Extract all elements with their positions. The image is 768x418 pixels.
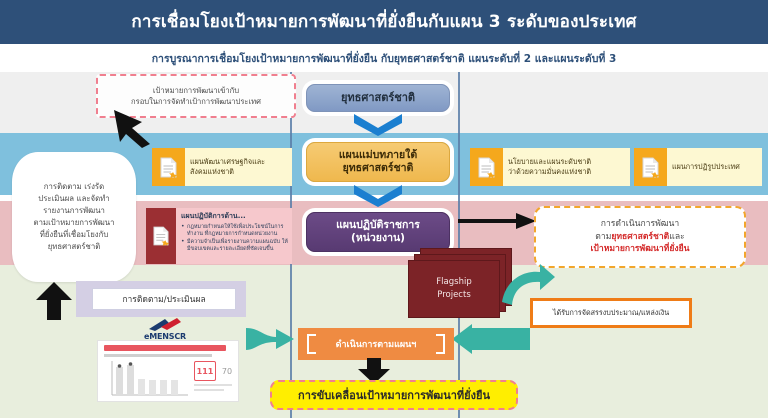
document-icon bbox=[634, 148, 667, 186]
dashboard-stat-rule bbox=[194, 389, 224, 391]
card-econ-social-plan[interactable]: แผนพัฒนาเศรษฐกิจและ สังคมแห่งชาติ bbox=[152, 148, 292, 186]
card-econ-social-plan-text: แผนพัฒนาเศรษฐกิจและ สังคมแห่งชาติ bbox=[190, 157, 269, 176]
document-icon bbox=[152, 148, 185, 186]
emenscr-dashboard-thumbnail[interactable]: 111 70 bbox=[97, 340, 239, 402]
goal-frame-box: เป้าหมายการพัฒนาเข้ากับ กรอบในการจัดทำเป… bbox=[96, 74, 296, 118]
subtitle-band: การบูรณาการเชื่อมโยงเป้าหมายการพัฒนาที่ย… bbox=[0, 44, 768, 72]
card-sector-action-plan[interactable]: แผนปฏิบัติการด้าน... กฎหมายกำหนดให้ใช้เพ… bbox=[146, 208, 292, 264]
cloud-monitoring-line: ตามเป้าหมายการพัฒนา bbox=[34, 217, 115, 229]
goal-frame-line1: เป้าหมายการพัฒนาเข้ากับ bbox=[131, 85, 261, 96]
goal-frame-line2: กรอบในการจัดทำเป้าการพัฒนาประเทศ bbox=[131, 96, 261, 107]
cloud-monitoring-line: ที่ยั่งยืนที่เชื่อมโยงกับ bbox=[34, 229, 115, 241]
card-security-plan-line2: ว่าด้วยความมั่นคงแห่งชาติ bbox=[508, 167, 591, 177]
emenscr-mark-icon bbox=[145, 318, 185, 332]
dashboard-subtitle-line bbox=[104, 354, 212, 357]
box-implementation-line3: เป้าหมายการพัฒนาที่ยั่งยืน bbox=[591, 243, 690, 256]
list-item: มีความจำเป็นเพื่อรายงานความแผนฉบับ ให้มี… bbox=[181, 239, 288, 253]
bracket-right bbox=[436, 334, 445, 354]
card-reform-plan-line1: แผนการปฏิรูปประเทศ bbox=[672, 162, 740, 172]
cloud-monitoring-line: ประเมินผล และจัดทำ bbox=[34, 193, 115, 205]
banner-sdg-drive-label: การขับเคลื่อนเป้าหมายการพัฒนาที่ยั่งยืน bbox=[298, 386, 490, 404]
emenscr-logo: eMENSCR bbox=[128, 318, 202, 341]
infographic-canvas: การเชื่อมโยงเป้าหมายการพัฒนาที่ยั่งยืนกั… bbox=[0, 0, 768, 418]
box-evaluation[interactable]: การติดตาม/ประเมินผล bbox=[92, 288, 236, 310]
document-icon bbox=[470, 148, 503, 186]
box-implementation: การดำเนินการพัฒนา ตามยุทธศาสตร์ชาติและ เ… bbox=[534, 206, 746, 268]
card-reform-plan-text: แผนการปฏิรูปประเทศ bbox=[672, 162, 744, 172]
flagship-label-line1: Flagship bbox=[436, 276, 471, 289]
node-national-strategy[interactable]: ยุทธศาสตร์ชาติ bbox=[306, 84, 450, 112]
bracket-left bbox=[307, 334, 316, 354]
box-implementation-line1: การดำเนินการพัฒนา bbox=[601, 218, 680, 231]
card-sector-action-plan-bullets: กฎหมายกำหนดให้ใช้เพื่อประโยชน์ในการทำงาน… bbox=[181, 224, 288, 253]
card-sector-action-plan-body: แผนปฏิบัติการด้าน... กฎหมายกำหนดให้ใช้เพ… bbox=[176, 208, 292, 264]
box-evaluation-label: การติดตาม/ประเมินผล bbox=[122, 292, 205, 306]
box-budget-allocation[interactable]: ได้รับการจัดสรรงบประมาณ/แหล่งเงิน bbox=[530, 298, 692, 328]
node-action-plan[interactable]: แผนปฏิบัติราชการ (หน่วยงาน) bbox=[306, 212, 450, 252]
card-econ-social-plan-line2: สังคมแห่งชาติ bbox=[190, 167, 265, 177]
flagship-projects-stack[interactable]: Flagship Projects bbox=[408, 248, 516, 320]
cloud-monitoring: การติดตาม เร่งรัด ประเมินผล และจัดทำ ราย… bbox=[12, 152, 136, 282]
document-icon bbox=[146, 208, 176, 264]
dashboard-bar-chart bbox=[106, 361, 190, 399]
dashboard-stat-primary: 111 bbox=[194, 361, 216, 381]
dashboard-header-bar bbox=[104, 345, 226, 351]
node-master-plan[interactable]: แผนแม่บทภายใต้ ยุทธศาสตร์ชาติ bbox=[306, 142, 450, 182]
node-national-strategy-label: ยุทธศาสตร์ชาติ bbox=[341, 91, 415, 105]
flagship-card-front[interactable]: Flagship Projects bbox=[408, 260, 500, 318]
node-master-plan-line2: ยุทธศาสตร์ชาติ bbox=[343, 162, 414, 175]
flagship-label-line2: Projects bbox=[437, 289, 471, 302]
dashboard-stat-rule bbox=[194, 384, 232, 386]
box-do-plan[interactable]: ดำเนินการตามแผนฯ bbox=[298, 328, 454, 360]
card-security-plan-line1: นโยบายและแผนระดับชาติ bbox=[508, 157, 591, 167]
box-implementation-line2: ตามยุทธศาสตร์ชาติและ bbox=[595, 231, 684, 244]
box-do-plan-label: ดำเนินการตามแผนฯ bbox=[336, 337, 417, 351]
dashboard-stat-panel: 111 70 bbox=[194, 361, 234, 395]
node-action-plan-line2: (หน่วยงาน) bbox=[351, 232, 405, 245]
cloud-monitoring-line: รายงานการพัฒนา bbox=[34, 205, 115, 217]
cloud-monitoring-line: การติดตาม เร่งรัด bbox=[34, 181, 115, 193]
impl-line2-tail: และ bbox=[669, 232, 684, 242]
page-title: การเชื่อมโยงเป้าหมายการพัฒนาที่ยั่งยืนกั… bbox=[131, 13, 636, 32]
impl-line2-plain: ตาม bbox=[595, 232, 611, 242]
page-subtitle: การบูรณาการเชื่อมโยงเป้าหมายการพัฒนาที่ย… bbox=[152, 50, 617, 67]
header-bar: การเชื่อมโยงเป้าหมายการพัฒนาที่ยั่งยืนกั… bbox=[0, 0, 768, 44]
dashboard-stat-secondary: 70 bbox=[220, 361, 234, 381]
banner-sdg-drive: การขับเคลื่อนเป้าหมายการพัฒนาที่ยั่งยืน bbox=[270, 380, 518, 410]
box-budget-allocation-label: ได้รับการจัดสรรงบประมาณ/แหล่งเงิน bbox=[553, 308, 669, 319]
node-action-plan-line1: แผนปฏิบัติราชการ bbox=[336, 219, 420, 232]
cloud-monitoring-line: ยุทธศาสตร์ชาติ bbox=[34, 241, 115, 253]
impl-line2-emphasis: ยุทธศาสตร์ชาติ bbox=[611, 232, 669, 242]
card-reform-plan[interactable]: แผนการปฏิรูปประเทศ bbox=[634, 148, 762, 186]
black-arrow-shaft bbox=[458, 219, 520, 223]
card-sector-action-plan-title: แผนปฏิบัติการด้าน... bbox=[181, 211, 288, 222]
card-security-plan-text: นโยบายและแผนระดับชาติ ว่าด้วยความมั่นคงแ… bbox=[508, 157, 595, 176]
list-item: กฎหมายกำหนดให้ใช้เพื่อประโยชน์ในการทำงาน… bbox=[181, 224, 288, 238]
guide-line-right bbox=[458, 72, 460, 418]
card-security-plan[interactable]: นโยบายและแผนระดับชาติ ว่าด้วยความมั่นคงแ… bbox=[470, 148, 630, 186]
card-econ-social-plan-line1: แผนพัฒนาเศรษฐกิจและ bbox=[190, 157, 265, 167]
node-master-plan-line1: แผนแม่บทภายใต้ bbox=[339, 149, 417, 162]
